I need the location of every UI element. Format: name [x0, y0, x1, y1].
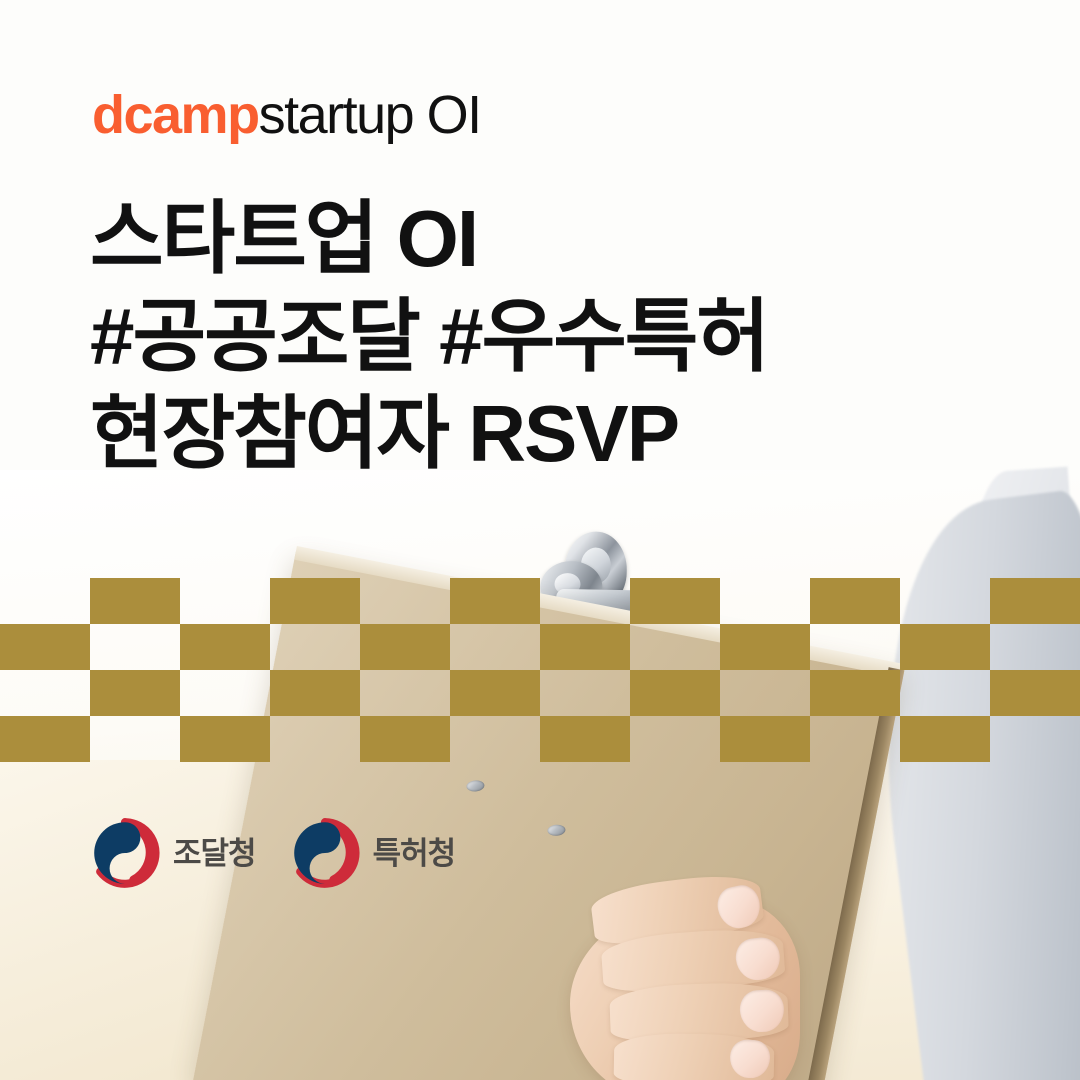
headline-line-1: 스타트업 OI	[90, 190, 990, 288]
taeguk-emblem-icon	[290, 818, 360, 888]
hand	[540, 880, 840, 1080]
agency-logo-patent: 특허청	[290, 818, 456, 888]
brand-word: startup OI	[259, 85, 481, 145]
clipboard-rivet	[466, 780, 485, 793]
headline: 스타트업 OI #공공조달 #우수특허 현장참여자 RSVP	[90, 190, 990, 483]
photo-layer	[0, 0, 1080, 1080]
poster-canvas: dcampstartup OI 스타트업 OI #공공조달 #우수특허 현장참여…	[0, 0, 1080, 1080]
brand-logo: dcampstartup OI	[92, 88, 481, 142]
headline-line-3: 현장참여자 RSVP	[90, 385, 990, 483]
brand-mark: dcamp	[92, 85, 259, 145]
clipboard-rivet	[547, 824, 566, 837]
headline-line-2: #공공조달 #우수특허	[90, 288, 990, 386]
taeguk-emblem-icon	[90, 818, 160, 888]
agency-logo-group: 조달청 특허청	[90, 818, 455, 888]
agency-logo-procurement: 조달청	[90, 818, 256, 888]
agency-label: 조달청	[173, 838, 256, 869]
agency-label: 특허청	[373, 838, 456, 869]
